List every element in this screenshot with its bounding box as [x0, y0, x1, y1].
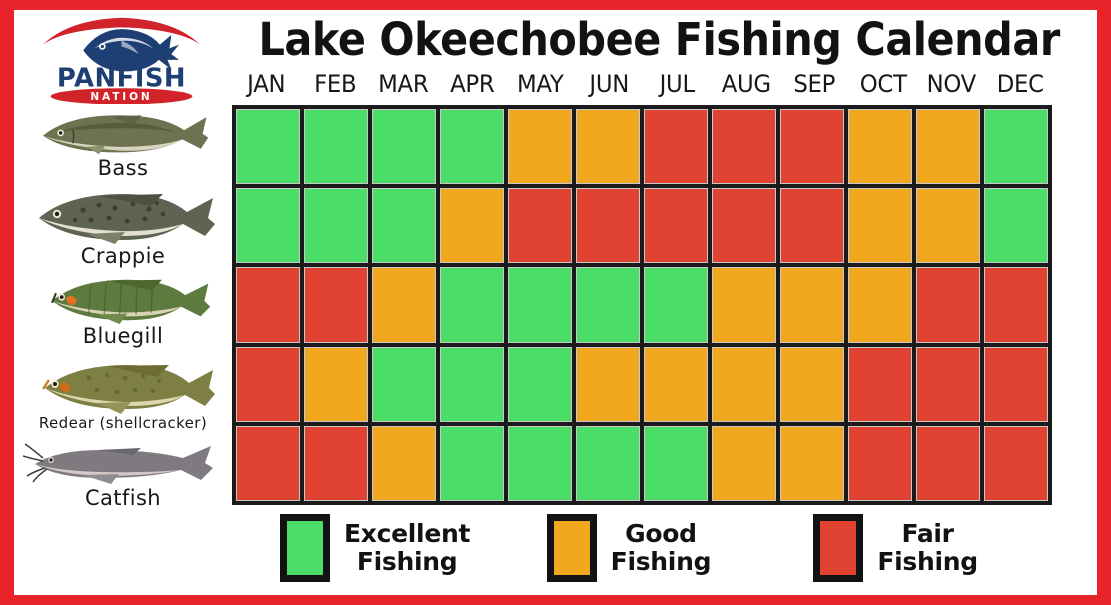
grid-cell-2-mar[interactable]	[372, 188, 436, 263]
crappie-fish-icon	[23, 186, 223, 246]
grid-cell-1-may[interactable]	[508, 109, 572, 184]
month-header-jan: JAN	[234, 70, 299, 98]
grid-row-crappie	[236, 188, 1048, 263]
grid-cell-3-nov[interactable]	[916, 267, 980, 342]
grid-cell-4-apr[interactable]	[440, 347, 504, 422]
bass-fish-icon	[30, 106, 216, 158]
species-row-redear: Redear (shellcracker)	[14, 358, 232, 431]
grid-cell-4-aug[interactable]	[712, 347, 776, 422]
grid-cell-1-mar[interactable]	[372, 109, 436, 184]
month-header-nov: NOV	[919, 70, 984, 98]
grid-cell-2-dec[interactable]	[984, 188, 1048, 263]
grid-cell-3-dec[interactable]	[984, 267, 1048, 342]
month-header-aug: AUG	[713, 70, 778, 98]
bluegill-fish-icon	[27, 272, 220, 326]
legend-label-fair-line2: Fishing	[877, 548, 978, 576]
legend-label-excellent: Excellent Fishing	[344, 520, 470, 576]
grid-cell-2-jul[interactable]	[644, 188, 708, 263]
legend-item-good: Good Fishing	[531, 514, 798, 582]
grid-cell-4-oct[interactable]	[848, 347, 912, 422]
grid-cell-1-jun[interactable]	[576, 109, 640, 184]
grid-cell-4-may[interactable]	[508, 347, 572, 422]
grid-cell-3-jun[interactable]	[576, 267, 640, 342]
legend-label-good: Good Fishing	[611, 520, 712, 576]
species-label-catfish: Catfish	[14, 488, 232, 509]
grid-cell-2-jan[interactable]	[236, 188, 300, 263]
legend-swatch-good	[547, 514, 597, 582]
legend-label-good-line1: Good	[625, 519, 697, 548]
species-label-crappie: Crappie	[14, 246, 232, 267]
grid-cell-5-mar[interactable]	[372, 426, 436, 501]
species-label-bluegill: Bluegill	[14, 326, 232, 347]
grid-cell-2-nov[interactable]	[916, 188, 980, 263]
month-header-apr: APR	[439, 70, 504, 98]
month-header-oct: OCT	[850, 70, 915, 98]
grid-cell-5-aug[interactable]	[712, 426, 776, 501]
legend-item-fair: Fair Fishing	[797, 514, 1064, 582]
grid-cell-5-apr[interactable]	[440, 426, 504, 501]
grid-cell-5-jul[interactable]	[644, 426, 708, 501]
redear-fish-icon	[23, 358, 223, 416]
page-title: Lake Okeechobee Fishing Calendar	[258, 16, 1051, 63]
grid-cell-5-oct[interactable]	[848, 426, 912, 501]
legend-label-excellent-line2: Fishing	[344, 548, 470, 576]
species-label-redear: Redear (shellcracker)	[14, 416, 232, 431]
legend: Excellent Fishing Good Fishing Fair Fish…	[264, 508, 1064, 588]
logo-text-nation: NATION	[90, 91, 152, 103]
grid-row-bluegill	[236, 267, 1048, 342]
grid-cell-1-sep[interactable]	[780, 109, 844, 184]
grid-cell-3-jan[interactable]	[236, 267, 300, 342]
grid-cell-1-dec[interactable]	[984, 109, 1048, 184]
fishing-rating-grid	[232, 105, 1052, 505]
grid-cell-1-apr[interactable]	[440, 109, 504, 184]
month-header-may: MAY	[508, 70, 573, 98]
catfish-fish-icon	[23, 438, 223, 488]
species-row-crappie: Crappie	[14, 186, 232, 267]
month-header-mar: MAR	[371, 70, 436, 98]
grid-cell-2-jun[interactable]	[576, 188, 640, 263]
species-row-catfish: Catfish	[14, 438, 232, 509]
legend-item-excellent: Excellent Fishing	[264, 514, 531, 582]
legend-swatch-excellent	[280, 514, 330, 582]
month-header-dec: DEC	[987, 70, 1052, 98]
grid-cell-2-aug[interactable]	[712, 188, 776, 263]
grid-cell-1-nov[interactable]	[916, 109, 980, 184]
grid-cell-3-may[interactable]	[508, 267, 572, 342]
poster-inner: PANFISH NATION Bass	[14, 10, 1097, 595]
grid-cell-2-sep[interactable]	[780, 188, 844, 263]
species-label-bass: Bass	[14, 158, 232, 179]
legend-label-good-line2: Fishing	[611, 548, 712, 576]
grid-cell-3-apr[interactable]	[440, 267, 504, 342]
grid-cell-1-oct[interactable]	[848, 109, 912, 184]
grid-cell-2-feb[interactable]	[304, 188, 368, 263]
grid-cell-3-aug[interactable]	[712, 267, 776, 342]
grid-cell-1-feb[interactable]	[304, 109, 368, 184]
grid-cell-3-feb[interactable]	[304, 267, 368, 342]
legend-label-fair: Fair Fishing	[877, 520, 978, 576]
species-row-bass: Bass	[14, 106, 232, 179]
month-header-feb: FEB	[302, 70, 367, 98]
grid-cell-5-nov[interactable]	[916, 426, 980, 501]
species-sidebar: PANFISH NATION Bass	[14, 10, 232, 595]
grid-cell-5-jun[interactable]	[576, 426, 640, 501]
grid-cell-5-sep[interactable]	[780, 426, 844, 501]
grid-cell-4-jun[interactable]	[576, 347, 640, 422]
legend-swatch-fair	[813, 514, 863, 582]
grid-cell-5-jan[interactable]	[236, 426, 300, 501]
fishing-calendar-poster: PANFISH NATION Bass	[0, 0, 1111, 605]
grid-cell-2-oct[interactable]	[848, 188, 912, 263]
grid-cell-4-mar[interactable]	[372, 347, 436, 422]
grid-cell-1-jul[interactable]	[644, 109, 708, 184]
grid-cell-4-jul[interactable]	[644, 347, 708, 422]
grid-cell-3-mar[interactable]	[372, 267, 436, 342]
grid-cell-3-jul[interactable]	[644, 267, 708, 342]
month-header-jul: JUL	[645, 70, 710, 98]
grid-cell-1-aug[interactable]	[712, 109, 776, 184]
grid-cell-4-nov[interactable]	[916, 347, 980, 422]
grid-row-catfish	[236, 426, 1048, 501]
month-header-row: JAN FEB MAR APR MAY JUN JUL AUG SEP OCT …	[232, 70, 1054, 98]
grid-cell-4-dec[interactable]	[984, 347, 1048, 422]
grid-cell-2-may[interactable]	[508, 188, 572, 263]
grid-cell-2-apr[interactable]	[440, 188, 504, 263]
grid-cell-4-jan[interactable]	[236, 347, 300, 422]
panfish-nation-logo: PANFISH NATION	[24, 12, 219, 104]
grid-row-redear-shellcracker	[236, 347, 1048, 422]
grid-cell-3-oct[interactable]	[848, 267, 912, 342]
grid-cell-4-sep[interactable]	[780, 347, 844, 422]
grid-cell-5-may[interactable]	[508, 426, 572, 501]
grid-cell-3-sep[interactable]	[780, 267, 844, 342]
grid-cell-1-jan[interactable]	[236, 109, 300, 184]
legend-label-fair-line1: Fair	[902, 519, 954, 548]
grid-row-bass	[236, 109, 1048, 184]
grid-cell-4-feb[interactable]	[304, 347, 368, 422]
legend-label-excellent-line1: Excellent	[344, 519, 470, 548]
grid-cell-5-dec[interactable]	[984, 426, 1048, 501]
month-header-jun: JUN	[576, 70, 641, 98]
month-header-sep: SEP	[782, 70, 847, 98]
species-row-bluegill: Bluegill	[14, 272, 232, 347]
grid-cell-5-feb[interactable]	[304, 426, 368, 501]
